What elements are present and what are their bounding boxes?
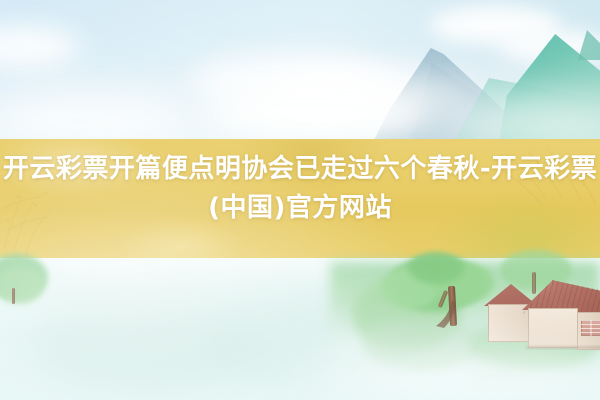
tree-main-canopy-top — [408, 252, 464, 284]
cottage-window-bars — [581, 320, 600, 336]
mist-peak-veil — [360, 74, 470, 118]
tree-main-root — [430, 300, 470, 330]
foreground-mist — [300, 342, 600, 400]
banner-title-line1: 开云彩票开篇便点明协会已走过六个春秋-开云彩票 — [0, 150, 600, 189]
cottage-wall-front — [528, 308, 578, 348]
banner-title: 开云彩票开篇便点明协会已走过六个春秋-开云彩票 (中国)官方网站 — [0, 150, 600, 228]
banner-image: 开云彩票开篇便点明协会已走过六个春秋-开云彩票 (中国)官方网站 — [0, 0, 600, 400]
banner-title-line2: (中国)官方网站 — [0, 189, 600, 228]
cottage — [478, 276, 600, 348]
tree-left-small-trunk — [12, 288, 15, 304]
